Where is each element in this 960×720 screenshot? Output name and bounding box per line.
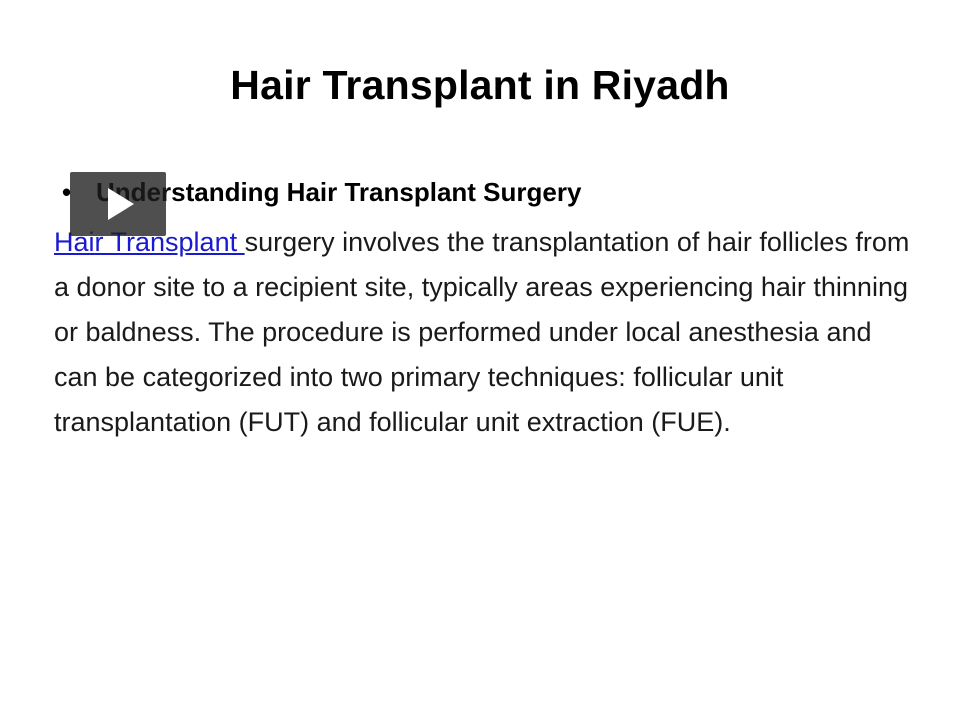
play-icon [108,188,134,220]
slide: Hair Transplant in Riyadh • Understandin… [0,0,960,720]
video-play-button[interactable] [70,172,166,236]
bullet-item: • Understanding Hair Transplant Surgery [54,172,914,212]
body-paragraph: Hair Transplant surgery involves the tra… [54,220,914,445]
page-title: Hair Transplant in Riyadh [0,62,960,109]
paragraph-text: surgery involves the transplantation of … [54,227,909,437]
slide-body: • Understanding Hair Transplant Surgery … [54,172,914,445]
bullet-item-label: Understanding Hair Transplant Surgery [96,177,581,207]
